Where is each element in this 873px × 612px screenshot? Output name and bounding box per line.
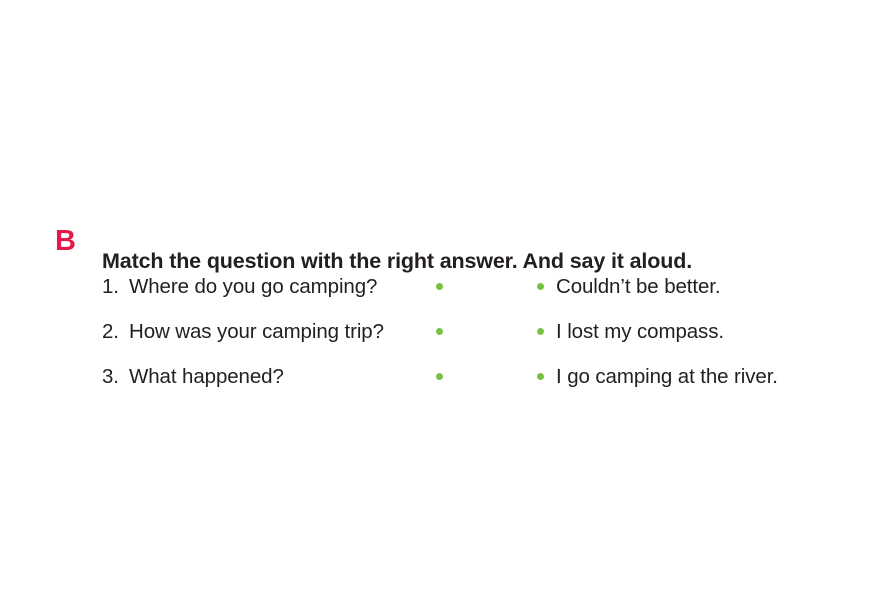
answer-text[interactable]: I lost my compass. (556, 317, 724, 347)
question-connector-dot-icon[interactable] (436, 373, 443, 380)
question-number: 1. (102, 272, 119, 302)
question-text: Where do you go camping? (129, 272, 377, 302)
exercise-instruction-heading: Match the question with the right answer… (102, 247, 692, 275)
question-item[interactable]: 1. Where do you go camping? (102, 272, 450, 302)
answer-connector-dot-icon[interactable] (537, 283, 544, 290)
answer-connector-dot-icon[interactable] (537, 373, 544, 380)
question-item[interactable]: 2. How was your camping trip? (102, 317, 450, 347)
question-text: How was your camping trip? (129, 317, 384, 347)
exercise-b: B Match the question with the right answ… (0, 0, 873, 612)
match-row: 3. What happened? I go camping at the ri… (0, 362, 873, 407)
question-connector-dot-icon[interactable] (436, 283, 443, 290)
match-row: 1. Where do you go camping? Couldn’t be … (0, 272, 873, 317)
answer-text[interactable]: I go camping at the river. (556, 362, 778, 392)
match-row: 2. How was your camping trip? I lost my … (0, 317, 873, 362)
question-item[interactable]: 3. What happened? (102, 362, 450, 392)
question-text: What happened? (129, 362, 284, 392)
matching-exercise-area: 1. Where do you go camping? Couldn’t be … (0, 272, 873, 407)
question-number: 2. (102, 317, 119, 347)
answer-text[interactable]: Couldn’t be better. (556, 272, 721, 302)
question-connector-dot-icon[interactable] (436, 328, 443, 335)
question-number: 3. (102, 362, 119, 392)
worksheet-page: B Match the question with the right answ… (0, 0, 873, 612)
answer-connector-dot-icon[interactable] (537, 328, 544, 335)
exercise-letter-badge: B (55, 226, 76, 256)
